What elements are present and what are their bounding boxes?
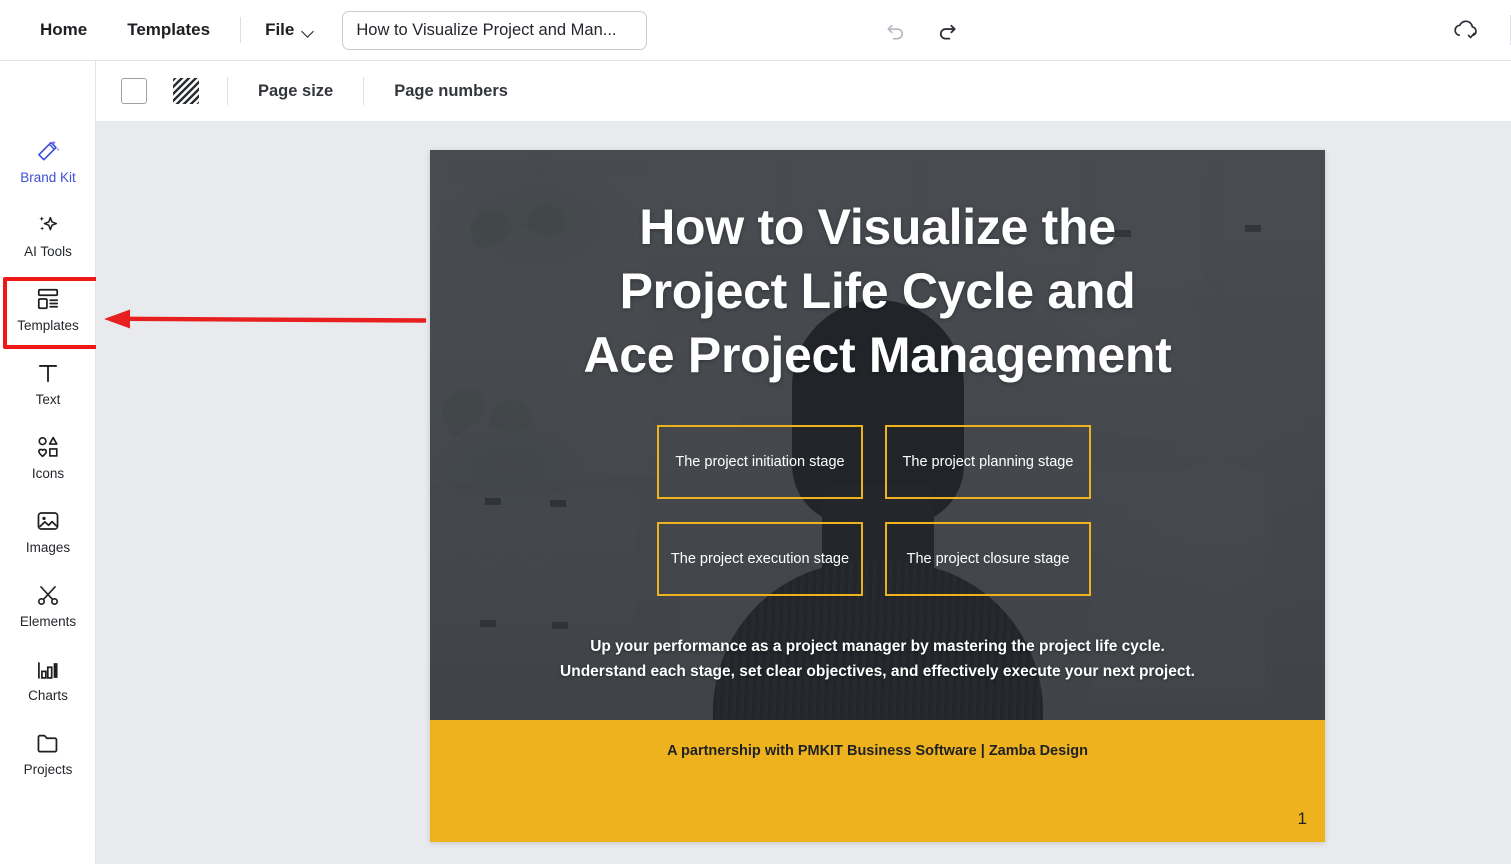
page-size-button[interactable]: Page size (256, 76, 335, 107)
deck-title-line-3: Ace Project Management (430, 323, 1325, 387)
folder-icon (35, 730, 61, 756)
sidebar-item-text[interactable]: Text (0, 346, 96, 420)
background-pattern-swatch[interactable] (173, 78, 199, 104)
document-title-input[interactable] (342, 11, 647, 50)
deck-subtitle-line-2: Understand each stage, set clear objecti… (490, 659, 1265, 684)
sidebar-item-label: Charts (28, 689, 68, 703)
deck-title-line-1: How to Visualize the (430, 195, 1325, 259)
file-menu-button[interactable]: File (261, 14, 318, 46)
image-icon (35, 508, 61, 534)
canvas-area[interactable]: How to Visualize the Project Life Cycle … (96, 122, 1511, 864)
file-menu-label: File (265, 20, 294, 40)
page-content: How to Visualize the Project Life Cycle … (430, 150, 1325, 842)
bar-chart-icon (35, 656, 61, 682)
stage-box[interactable]: The project initiation stage (657, 425, 863, 499)
nav-templates[interactable]: Templates (117, 12, 220, 48)
undo-icon (884, 19, 907, 42)
app-root: Home Templates File (0, 0, 1511, 864)
sidebar-item-charts[interactable]: Charts (0, 642, 96, 716)
sidebar-item-label: Text (36, 393, 61, 407)
sparkles-icon (35, 212, 61, 238)
footer-band: A partnership with PMKIT Business Softwa… (430, 720, 1325, 842)
stage-grid: The project initiation stage The project… (657, 425, 1097, 596)
redo-button[interactable] (932, 15, 962, 45)
save-status-button[interactable] (1451, 17, 1481, 43)
sidebar-item-label: Images (26, 541, 70, 555)
topbar-divider (240, 17, 241, 43)
template-layout-icon (35, 286, 61, 312)
stage-box[interactable]: The project closure stage (885, 522, 1091, 596)
sidebar-item-icons[interactable]: Icons (0, 420, 96, 494)
chevron-down-icon (303, 27, 314, 34)
toolbar-divider-1 (227, 77, 228, 105)
page-number: 1 (1298, 809, 1307, 829)
toolbar-divider-2 (363, 77, 364, 105)
sidebar-item-elements[interactable]: Elements (0, 568, 96, 642)
top-bar: Home Templates File (0, 0, 1511, 61)
shapes-icon (35, 434, 61, 460)
magic-wand-icon (35, 138, 61, 164)
sidebar-item-label: Elements (20, 615, 76, 629)
sidebar-item-templates[interactable]: Templates (0, 272, 96, 346)
history-buttons (880, 15, 962, 45)
sidebar-item-ai-tools[interactable]: AI Tools (0, 198, 96, 272)
redo-icon (936, 19, 959, 42)
deck-title: How to Visualize the Project Life Cycle … (430, 195, 1325, 387)
deck-title-line-2: Project Life Cycle and (430, 259, 1325, 323)
sidebar-item-label: Brand Kit (20, 171, 76, 185)
background-color-swatch[interactable] (121, 78, 147, 104)
left-sidebar: Brand Kit AI Tools Templates Text (0, 61, 96, 864)
sidebar-item-label: Projects (24, 763, 73, 777)
deck-subtitle: Up your performance as a project manager… (490, 634, 1265, 684)
stage-box[interactable]: The project execution stage (657, 522, 863, 596)
stage-box[interactable]: The project planning stage (885, 425, 1091, 499)
scissors-icon (35, 582, 61, 608)
sidebar-item-label: Icons (32, 467, 64, 481)
page-toolbar: Page size Page numbers (96, 61, 1511, 122)
sidebar-item-brand-kit[interactable]: Brand Kit (0, 124, 96, 198)
footer-partnership-text: A partnership with PMKIT Business Softwa… (430, 743, 1325, 759)
undo-button[interactable] (880, 15, 910, 45)
sidebar-item-label: Templates (17, 319, 79, 333)
nav-home[interactable]: Home (30, 12, 97, 48)
deck-subtitle-line-1: Up your performance as a project manager… (490, 634, 1265, 659)
cloud-saved-icon (1451, 17, 1481, 43)
document-page[interactable]: How to Visualize the Project Life Cycle … (430, 150, 1325, 842)
sidebar-item-label: AI Tools (24, 245, 72, 259)
sidebar-item-images[interactable]: Images (0, 494, 96, 568)
sidebar-item-projects[interactable]: Projects (0, 716, 96, 790)
page-numbers-button[interactable]: Page numbers (392, 76, 510, 107)
text-t-icon (35, 360, 61, 386)
